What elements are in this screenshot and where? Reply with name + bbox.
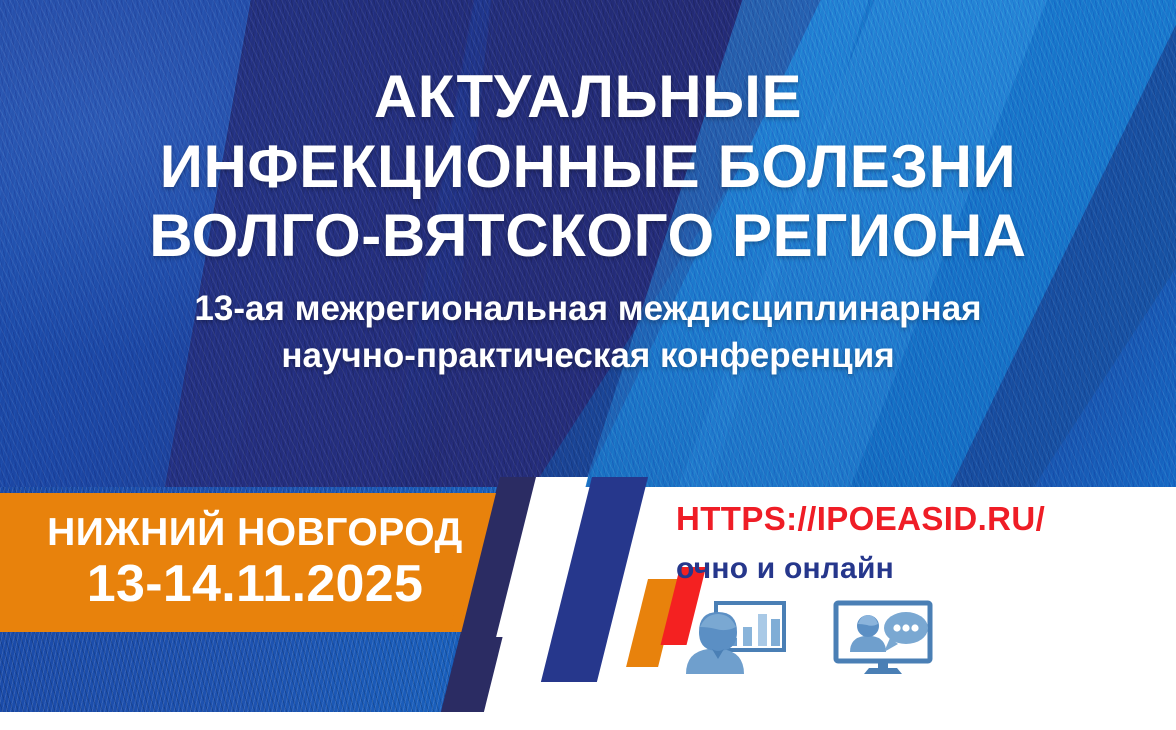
website-url-link[interactable]: HTTPS://IPOEASID.RU/ <box>676 500 1156 538</box>
subtitle-line-2: научно-практическая конференция <box>281 334 894 379</box>
title-line-2: ИНФЕКЦИОННЫЕ БОЛЕЗНИ <box>160 132 1016 202</box>
subtitle-line-1: 13-ая межрегиональная междисциплинарная <box>194 287 981 332</box>
conference-banner: АКТУАЛЬНЫЕ ИНФЕКЦИОННЫЕ БОЛЕЗНИ ВОЛГО-ВЯ… <box>0 0 1176 730</box>
format-icons-group <box>676 600 1156 678</box>
monitor-chat-icon <box>828 600 938 678</box>
presenter-chart-icon <box>676 600 786 678</box>
right-content-block: HTTPS://IPOEASID.RU/ очно и онлайн <box>676 500 1156 678</box>
participation-format-label: очно и онлайн <box>676 552 1156 586</box>
title-block: АКТУАЛЬНЫЕ ИНФЕКЦИОННЫЕ БОЛЕЗНИ ВОЛГО-ВЯ… <box>0 0 1176 494</box>
dates-label: 13-14.11.2025 <box>0 556 510 612</box>
title-line-3: ВОЛГО-ВЯТСКОГО РЕГИОНА <box>149 201 1027 271</box>
location-date-text: НИЖНИЙ НОВГОРОД 13-14.11.2025 <box>0 493 510 632</box>
location-label: НИЖНИЙ НОВГОРОД <box>0 512 510 554</box>
bottom-white-strip <box>0 712 520 730</box>
title-line-1: АКТУАЛЬНЫЕ <box>374 62 802 132</box>
